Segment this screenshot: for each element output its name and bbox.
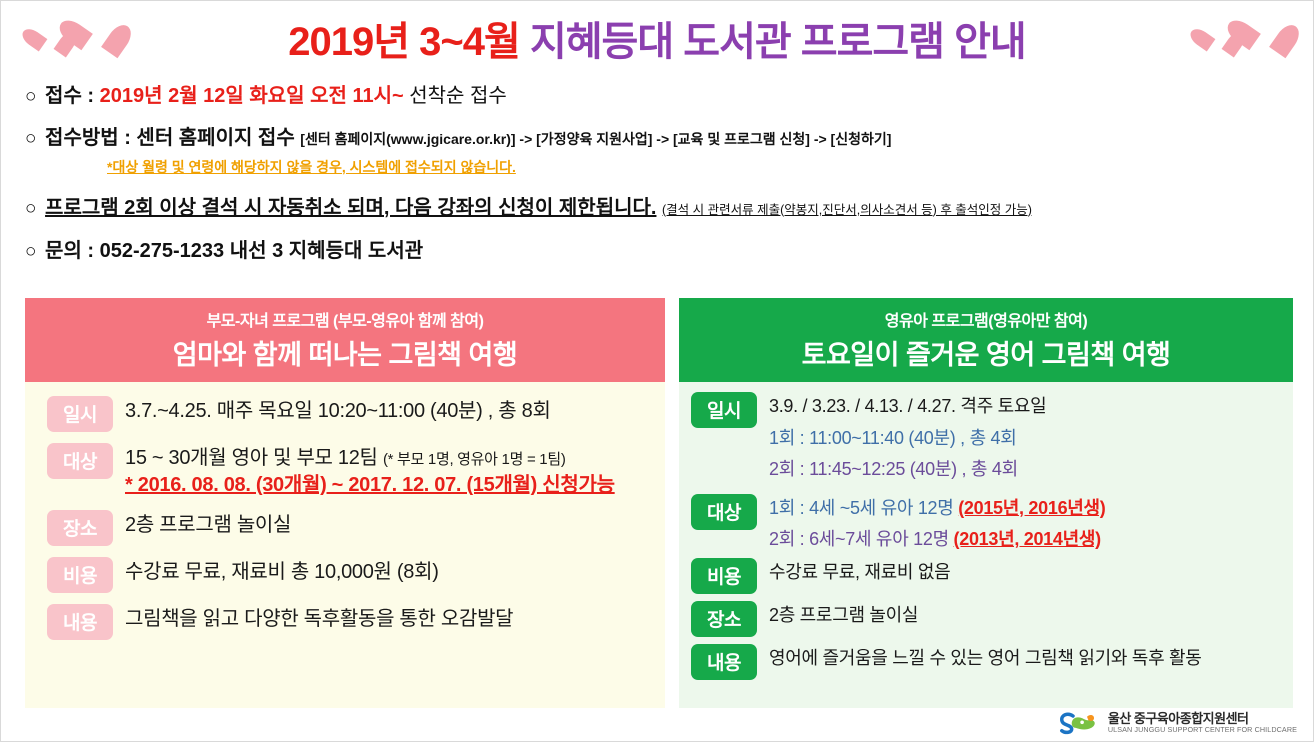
footer-logo: 울산 중구육아종합지원센터 ULSAN JUNGGU SUPPORT CENTE…: [1059, 711, 1297, 735]
poster-root: 2019년 3~4월 지혜등대 도서관 프로그램 안내 ○ 접수 : 2019년…: [0, 0, 1314, 742]
panel-subtitle: 영유아 프로그램(영유아만 참여): [685, 307, 1287, 331]
bullet-glyph: ○: [25, 128, 36, 149]
bullet-glyph: ○: [25, 198, 36, 219]
page-title: 2019년 3~4월 지혜등대 도서관 프로그램 안내: [1, 9, 1313, 67]
row-badge: 일시: [47, 396, 113, 432]
info-label-contact: 문의 : 052-275-1233 내선 3 지혜등대 도서관: [45, 240, 423, 262]
row-value: 2층 프로그램 놀이실: [125, 510, 291, 539]
panel-header-parent-child: 부모-자녀 프로그램 (부모-영유아 함께 참여) 엄마와 함께 떠나는 그림책…: [25, 298, 665, 382]
info-label-policy: 프로그램 2회 이상 결석 시 자동취소 되며, 다음 강좌의 신청이 제한됩니…: [45, 197, 656, 219]
row-value-main: 3.9. / 3.23. / 4.13. / 4.27. 격주 토요일: [769, 396, 1046, 416]
panel-header-infant-english: 영유아 프로그램(영유아만 참여) 토요일이 즐거운 영어 그림책 여행: [679, 298, 1293, 382]
detail-row-cost: 비용 수강료 무료, 재료비 총 10,000원 (8회): [47, 557, 665, 593]
bullet-glyph: ○: [25, 86, 36, 107]
row-value: 수강료 무료, 재료비 총 10,000원 (8회): [125, 557, 439, 586]
heart-decoration-right: [1201, 15, 1291, 55]
detail-row-place: 장소 2층 프로그램 놀이실: [691, 601, 1293, 637]
page-title-main: 지혜등대 도서관 프로그램 안내: [520, 20, 1026, 64]
row-value: 수강료 무료, 재료비 없음: [769, 558, 950, 584]
detail-row-content: 내용 그림책을 읽고 다양한 독후활동을 통한 오감발달: [47, 604, 665, 640]
row-badge: 비용: [47, 557, 113, 593]
row-badge: 내용: [47, 604, 113, 640]
row-badge: 비용: [691, 558, 757, 594]
row-value-main: 15 ~ 30개월 영아 및 부모 12팀: [125, 447, 378, 469]
row-badge: 내용: [691, 644, 757, 680]
info-label-registration: 접수 :: [45, 85, 100, 107]
row-value-redline: * 2016. 08. 08. (30개월) ~ 2017. 12. 07. (…: [125, 474, 615, 496]
program-panel-parent-child: 부모-자녀 프로그램 (부모-영유아 함께 참여) 엄마와 함께 떠나는 그림책…: [25, 298, 665, 708]
row-badge: 일시: [691, 392, 757, 428]
row-value-session-1: 1회 : 11:00~11:40 (40분) , 총 4회: [769, 426, 1046, 450]
sc-swoosh-logo-icon: [1059, 711, 1101, 735]
info-row-contact: ○ 문의 : 052-275-1233 내선 3 지혜등대 도서관: [25, 240, 1305, 263]
row-value-session-2-redline: (2013년, 2014년생): [954, 529, 1101, 549]
row-badge: 장소: [47, 510, 113, 546]
panel-rows-infant-english: 일시 3.9. / 3.23. / 4.13. / 4.27. 격주 토요일 1…: [679, 382, 1293, 680]
info-row-registration: ○ 접수 : 2019년 2월 12일 화요일 오전 11시~ 선착순 접수: [25, 85, 1305, 108]
poster-header: 2019년 3~4월 지혜등대 도서관 프로그램 안내: [1, 1, 1313, 79]
bullet-glyph: ○: [25, 241, 36, 262]
detail-row-content: 내용 영어에 즐거움을 느낄 수 있는 영어 그림책 읽기와 독후 활동: [691, 644, 1293, 680]
footer-org-en: ULSAN JUNGGU SUPPORT CENTER FOR CHILDCAR…: [1108, 726, 1297, 734]
footer-org-ko: 울산 중구육아종합지원센터: [1108, 712, 1297, 726]
row-value-session-2-text: 2회 : 6세~7세 유아 12명: [769, 529, 949, 549]
row-value-session-1-text: 1회 : 4세 ~5세 유아 12명: [769, 498, 954, 518]
row-value: 그림책을 읽고 다양한 독후활동을 통한 오감발달: [125, 604, 513, 633]
detail-row-target: 대상 15 ~ 30개월 영아 및 부모 12팀 (* 부모 1명, 영유아 1…: [47, 443, 665, 499]
detail-row-place: 장소 2층 프로그램 놀이실: [47, 510, 665, 546]
info-warning-text: *대상 월령 및 연령에 해당하지 않을 경우, 시스템에 접수되지 않습니다.: [107, 159, 516, 175]
row-value: 영어에 즐거움을 느낄 수 있는 영어 그림책 읽기와 독후 활동: [769, 644, 1202, 670]
row-value: 2층 프로그램 놀이실: [769, 601, 918, 627]
row-value: 3.7.~4.25. 매주 목요일 10:20~11:00 (40분) , 총 …: [125, 396, 551, 425]
info-note-policy: (결석 시 관련서류 제출(약봉지,진단서,의사소견서 등) 후 출석인정 가능…: [662, 203, 1032, 217]
footer-org-text: 울산 중구육아종합지원센터 ULSAN JUNGGU SUPPORT CENTE…: [1108, 712, 1297, 733]
info-label-method: 접수방법 : 센터 홈페이지 접수: [45, 127, 295, 149]
heart-icon: [1244, 12, 1290, 58]
detail-row-cost: 비용 수강료 무료, 재료비 없음: [691, 558, 1293, 594]
row-badge: 장소: [691, 601, 757, 637]
info-value-method-path: [센터 홈페이지(www.jgicare.or.kr)] -> [가정양육 지원…: [300, 131, 891, 147]
page-title-period: 2019년 3~4월: [288, 20, 520, 64]
row-value: 1회 : 4세 ~5세 유아 12명 (2015년, 2016년생) 2회 : …: [769, 494, 1106, 552]
info-section: ○ 접수 : 2019년 2월 12일 화요일 오전 11시~ 선착순 접수 ○…: [25, 85, 1305, 263]
row-badge: 대상: [691, 494, 757, 530]
row-value-note: (* 부모 1명, 영유아 1명 = 1팀): [383, 451, 566, 468]
program-panels: 부모-자녀 프로그램 (부모-영유아 함께 참여) 엄마와 함께 떠나는 그림책…: [25, 298, 1293, 708]
program-panel-infant-english: 영유아 프로그램(영유아만 참여) 토요일이 즐거운 영어 그림책 여행 일시 …: [679, 298, 1293, 708]
panel-title: 토요일이 즐거운 영어 그림책 여행: [685, 333, 1287, 372]
row-value: 15 ~ 30개월 영아 및 부모 12팀 (* 부모 1명, 영유아 1명 =…: [125, 443, 615, 499]
info-value-registration-date: 2019년 2월 12일 화요일 오전 11시~: [100, 85, 404, 107]
row-value-session-1: 1회 : 4세 ~5세 유아 12명 (2015년, 2016년생): [769, 496, 1106, 520]
info-row-method: ○ 접수방법 : 센터 홈페이지 접수 [센터 홈페이지(www.jgicare…: [25, 127, 1305, 150]
row-value: 3.9. / 3.23. / 4.13. / 4.27. 격주 토요일 1회 :…: [769, 392, 1046, 487]
panel-subtitle: 부모-자녀 프로그램 (부모-영유아 함께 참여): [31, 307, 659, 331]
panel-rows-parent-child: 일시 3.7.~4.25. 매주 목요일 10:20~11:00 (40분) ,…: [25, 382, 665, 640]
info-row-policy: ○ 프로그램 2회 이상 결석 시 자동취소 되며, 다음 강좌의 신청이 제한…: [25, 197, 1305, 220]
info-row-warning: *대상 월령 및 연령에 해당하지 않을 경우, 시스템에 접수되지 않습니다.: [25, 155, 1305, 177]
detail-row-target: 대상 1회 : 4세 ~5세 유아 12명 (2015년, 2016년생) 2회…: [691, 494, 1293, 552]
row-value-session-2: 2회 : 11:45~12:25 (40분) , 총 4회: [769, 457, 1046, 481]
panel-title: 엄마와 함께 떠나는 그림책 여행: [31, 333, 659, 372]
row-value-session-1-redline: (2015년, 2016년생): [958, 498, 1105, 518]
row-value-session-2: 2회 : 6세~7세 유아 12명 (2013년, 2014년생): [769, 527, 1106, 551]
row-badge: 대상: [47, 443, 113, 479]
info-value-registration-rest: 선착순 접수: [404, 85, 507, 107]
detail-row-datetime: 일시 3.9. / 3.23. / 4.13. / 4.27. 격주 토요일 1…: [691, 392, 1293, 487]
detail-row-datetime: 일시 3.7.~4.25. 매주 목요일 10:20~11:00 (40분) ,…: [47, 396, 665, 432]
